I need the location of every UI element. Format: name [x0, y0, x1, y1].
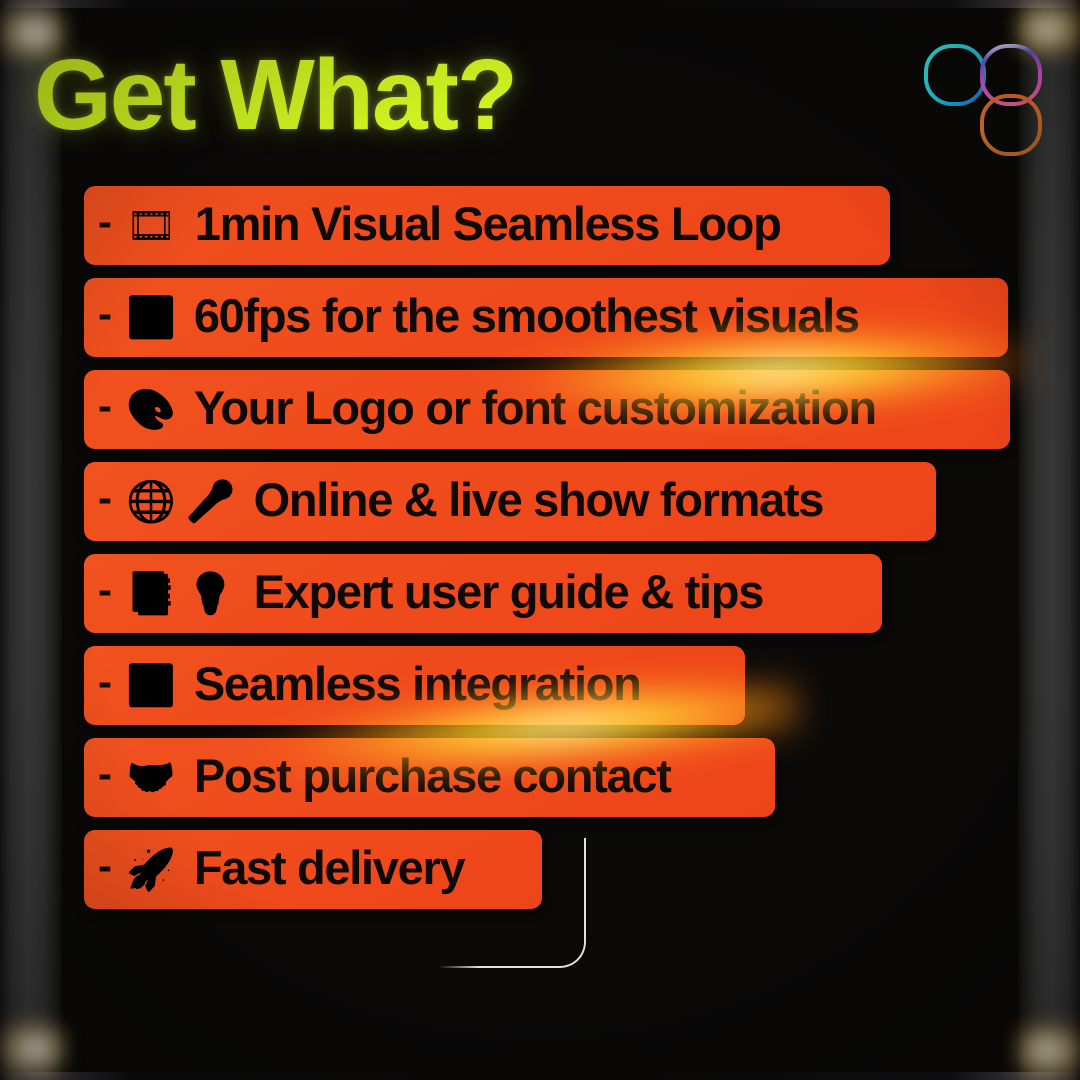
feature-bar[interactable]: - 🚀 Fast delivery	[84, 830, 542, 909]
list-item[interactable]: - 🚀 Fast delivery	[0, 830, 1080, 909]
microphone-icon: 🎤	[186, 482, 236, 522]
feature-bar[interactable]: - ⏩ 60fps for the smoothest visuals	[84, 278, 1008, 357]
feature-label: Expert user guide & tips	[254, 568, 763, 615]
feature-label: Seamless integration	[194, 660, 641, 707]
list-item[interactable]: - 🎞 1min Visual Seamless Loop	[0, 186, 1080, 265]
books-icon: 📑	[126, 574, 176, 614]
film-frames-icon: 🎞	[126, 206, 177, 246]
bullet-dash: -	[98, 477, 112, 519]
list-item[interactable]: - ⏩ 60fps for the smoothest visuals	[0, 278, 1080, 357]
poster-canvas: Get What?	[0, 0, 1080, 1080]
three-rings-logo	[920, 34, 1048, 160]
list-item[interactable]: - 🌐 🎤 Online & live show formats	[0, 462, 1080, 541]
list-item[interactable]: - 📑 💡 Expert user guide & tips	[0, 554, 1080, 633]
list-item[interactable]: - 🤝 Post purchase contact	[0, 738, 1080, 817]
page-title: Get What?	[34, 40, 516, 150]
artist-palette-icon: 🎨	[126, 390, 176, 430]
bullet-dash: -	[98, 293, 112, 335]
feature-label: Post purchase contact	[194, 752, 671, 799]
feature-label: 1min Visual Seamless Loop	[195, 200, 781, 247]
globe-icon: 🌐	[126, 482, 176, 522]
bullet-dash: -	[98, 753, 112, 795]
corner-glow-bottom-left	[0, 1020, 66, 1078]
feature-bar[interactable]: - 🌐 🎤 Online & live show formats	[84, 462, 936, 541]
bullet-dash: -	[98, 845, 112, 887]
feature-bar[interactable]: - 🤝 Post purchase contact	[84, 738, 775, 817]
list-item[interactable]: - 🔀 Seamless integration	[0, 646, 1080, 725]
feature-list: - 🎞 1min Visual Seamless Loop - ⏩ 60fps …	[0, 186, 1080, 922]
corner-glow-bottom-right	[1016, 1022, 1080, 1080]
feature-bar[interactable]: - 🎞 1min Visual Seamless Loop	[84, 186, 890, 265]
rocket-icon: 🚀	[126, 850, 176, 890]
feature-label: Your Logo or font customization	[194, 384, 876, 431]
lightbulb-icon: 💡	[186, 574, 236, 614]
feature-label: Fast delivery	[194, 844, 464, 891]
bullet-dash: -	[98, 661, 112, 703]
bottom-edge-highlight	[0, 1072, 1080, 1080]
feature-bar[interactable]: - 📑 💡 Expert user guide & tips	[84, 554, 882, 633]
top-edge-highlight	[0, 0, 1080, 8]
fast-forward-icon: ⏩	[126, 298, 176, 338]
bullet-dash: -	[98, 569, 112, 611]
bullet-dash: -	[98, 201, 112, 243]
handshake-icon: 🤝	[126, 758, 176, 798]
list-item[interactable]: - 🎨 Your Logo or font customization	[0, 370, 1080, 449]
feature-label: Online & live show formats	[254, 476, 824, 523]
feature-bar[interactable]: - 🎨 Your Logo or font customization	[84, 370, 1010, 449]
bullet-dash: -	[98, 385, 112, 427]
feature-label: 60fps for the smoothest visuals	[194, 292, 859, 339]
ring-cyan	[926, 46, 984, 104]
feature-bar[interactable]: - 🔀 Seamless integration	[84, 646, 745, 725]
shuffle-icon: 🔀	[126, 666, 176, 706]
